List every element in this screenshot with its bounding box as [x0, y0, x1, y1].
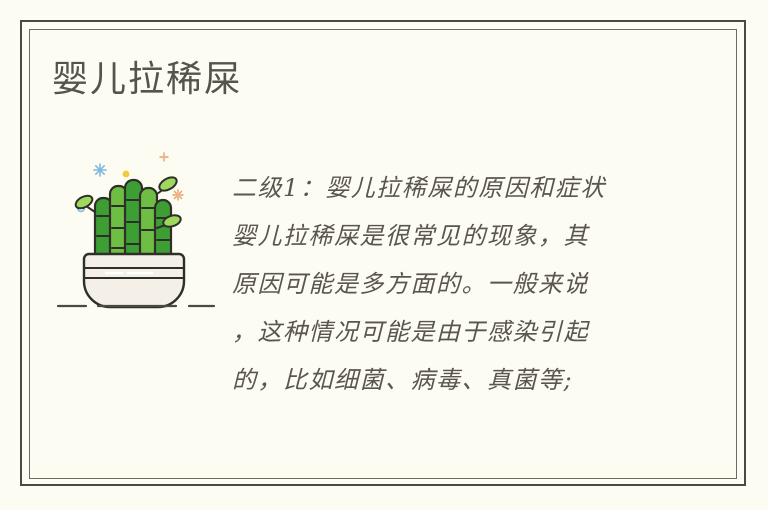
- sparkle-orange-right: [173, 190, 183, 200]
- sparkle-yellow-dot: [123, 171, 130, 178]
- sparkle-blue-snowflake: [94, 164, 106, 176]
- article-line: 的，比如细菌、病毒、真菌等;: [232, 356, 662, 404]
- article-line: ，这种情况可能是由于感染引起: [232, 308, 662, 356]
- potted-cactus-illustration: [56, 150, 216, 310]
- article-line: 婴儿拉稀屎是很常见的现象，其: [232, 212, 662, 260]
- plant-pot: [84, 254, 184, 307]
- page-root: 婴儿拉稀屎: [0, 0, 768, 510]
- page-title: 婴儿拉稀屎: [52, 56, 242, 104]
- article-body: 二级1：婴儿拉稀屎的原因和症状 婴儿拉稀屎是很常见的现象，其 原因可能是多方面的…: [232, 164, 662, 404]
- article-line: 原因可能是多方面的。一般来说: [232, 260, 662, 308]
- article-line: 二级1：婴儿拉稀屎的原因和症状: [232, 164, 662, 212]
- sparkle-orange-top: [160, 153, 168, 161]
